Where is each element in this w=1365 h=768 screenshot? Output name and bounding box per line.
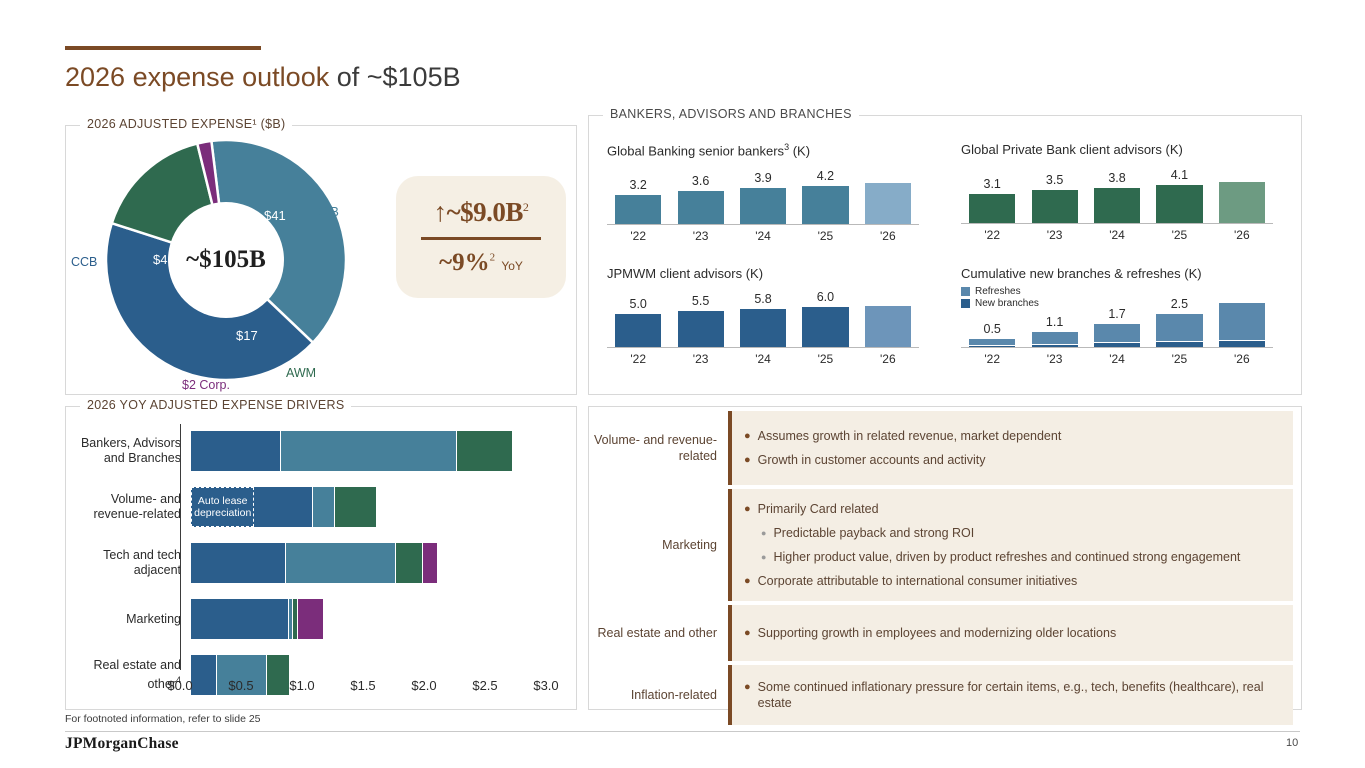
axis-tick-label: '22	[961, 352, 1023, 366]
axis-tick-label: '26	[857, 229, 919, 243]
commentary-body: ●Assumes growth in related revenue, mark…	[728, 411, 1293, 485]
bar-column: 3.8	[1086, 171, 1148, 223]
driver-segment-awm	[396, 543, 423, 583]
title-accent-rule	[65, 46, 261, 50]
driver-segment-ccb	[191, 431, 281, 471]
segment-refreshes	[1094, 324, 1140, 342]
driver-segment-cib	[286, 543, 396, 583]
chart-title: Cumulative new branches & refreshes (K)	[961, 266, 1273, 281]
stacked-bar	[969, 339, 1015, 347]
axis-tick-label: '24	[1086, 352, 1148, 366]
bar-column: 4.2	[794, 169, 856, 224]
commentary-body: ●Supporting growth in employees and mode…	[728, 605, 1293, 661]
callout-percent: ~9%2 YoY	[439, 249, 523, 277]
driver-bar-track	[191, 599, 576, 639]
commentary-bullet: ●Assumes growth in related revenue, mark…	[744, 428, 1281, 444]
bar-column	[857, 166, 919, 224]
bullet-dot-icon: ●	[761, 549, 766, 565]
donut-label-awm: AWM	[286, 366, 316, 380]
drivers-axis-line	[180, 424, 181, 670]
bar-column: 5.8	[732, 292, 794, 347]
segment-new-branches	[1156, 341, 1202, 347]
bar-value-label: 1.7	[1108, 307, 1125, 322]
donut-value-awm: $17	[236, 328, 258, 343]
commentary-row: Volume- and revenue-related●Assumes grow…	[589, 411, 1293, 485]
bar-value-label: 3.9	[754, 171, 771, 186]
driver-axis-tick: $0.0	[167, 678, 192, 693]
stacked-bar	[1032, 332, 1078, 347]
axis-tick-label: '22	[607, 352, 669, 366]
commentary-bullet: ●Supporting growth in employees and mode…	[744, 625, 1281, 641]
bar-column: 3.9	[732, 171, 794, 224]
axis-tick-label: '23	[669, 229, 731, 243]
driver-segment-cib	[281, 431, 457, 471]
axis-tick-label: '26	[1211, 228, 1273, 242]
segment-new-branches	[969, 345, 1015, 347]
commentary-bullet: ●Primarily Card related	[744, 501, 1281, 517]
axis-tick-label: '24	[732, 229, 794, 243]
commentary-bullet-text: Primarily Card related	[758, 501, 879, 517]
stacked-bar	[1156, 314, 1202, 347]
driver-axis-tick: $2.5	[472, 678, 497, 693]
bullet-dot-icon: ●	[744, 625, 751, 641]
bar	[969, 194, 1015, 223]
commentary-bullet-text: Higher product value, driven by product …	[773, 549, 1240, 565]
axis-tick-label: '23	[1023, 352, 1085, 366]
axis-tick-label: '26	[1211, 352, 1273, 366]
bar	[615, 195, 661, 224]
axis-tick-label: '25	[794, 229, 856, 243]
commentary-category-label: Inflation-related	[589, 665, 728, 725]
driver-segment-corp	[423, 543, 438, 583]
driver-axis-tick: $0.5	[228, 678, 253, 693]
bar-column	[857, 289, 919, 347]
bar	[740, 188, 786, 224]
panel-bankers-title: BANKERS, ADVISORS AND BRANCHES	[603, 107, 859, 121]
bar	[865, 183, 911, 224]
slide-root: 2026 expense outlook of ~$105B 2026 ADJU…	[0, 0, 1365, 768]
donut-value-corp: $2	[182, 378, 196, 392]
donut-value-ccb: $45	[153, 252, 175, 267]
drivers-chart: Bankers, Advisors and BranchesVolume- an…	[66, 431, 576, 709]
chart-title: Global Banking senior bankers3 (K)	[607, 142, 919, 158]
driver-axis-tick: $2.0	[411, 678, 436, 693]
commentary-bullet: ●Predictable payback and strong ROI	[744, 525, 1281, 541]
segment-refreshes	[1032, 332, 1078, 344]
footer-divider	[65, 731, 1300, 732]
axis-tick-label: '26	[857, 352, 919, 366]
bullet-dot-icon: ●	[761, 525, 766, 541]
bar-column: 5.0	[607, 297, 669, 347]
segment-refreshes	[1219, 303, 1265, 340]
commentary-row: Marketing●Primarily Card related●Predict…	[589, 489, 1293, 601]
driver-row: Volume- and revenue-relatedAuto lease de…	[66, 487, 576, 527]
bar	[740, 309, 786, 347]
bar-column: 3.2	[607, 178, 669, 224]
chart-cumulative-new-branches-refreshes: Cumulative new branches & refreshes (K) …	[961, 266, 1273, 366]
axis-tick-label: '22	[961, 228, 1023, 242]
callout-amount: ↑~$9.0B2	[434, 197, 529, 228]
page-title-secondary: of ~$105B	[337, 62, 461, 92]
bar-value-label: 4.1	[1171, 168, 1188, 183]
commentary-category-label: Volume- and revenue-related	[589, 411, 728, 485]
bar	[865, 306, 911, 347]
chart-title: Global Private Bank client advisors (K)	[961, 142, 1273, 157]
driver-bar-track: Auto lease depreciation	[191, 487, 576, 527]
commentary-bullet: ●Some continued inflationary pressure fo…	[744, 679, 1281, 711]
driver-bar-track	[191, 543, 576, 583]
axis-tick-label: '25	[794, 352, 856, 366]
axis-tick-label: '25	[1148, 228, 1210, 242]
driver-segment-awm	[457, 431, 512, 471]
commentary-row: Inflation-related●Some continued inflati…	[589, 665, 1293, 725]
stacked-bar-column: 2.5	[1148, 297, 1210, 347]
commentary-bullet: ●Corporate attributable to international…	[744, 573, 1281, 589]
bar	[1032, 190, 1078, 223]
bar	[1219, 182, 1265, 223]
panel-driver-commentary: Volume- and revenue-related●Assumes grow…	[588, 406, 1302, 710]
brand-logo: JPMorganChase	[65, 735, 179, 753]
donut-label-corp-text: Corp.	[199, 378, 230, 392]
bar	[678, 311, 724, 347]
panel-adjusted-expense: 2026 ADJUSTED EXPENSE¹ ($B) ~$105B $45 $…	[65, 125, 577, 395]
stacked-bar-column: 1.7	[1086, 307, 1148, 347]
axis-tick-label: '23	[1023, 228, 1085, 242]
commentary-bullet-text: Growth in customer accounts and activity	[758, 452, 986, 468]
bar-value-label: 5.0	[630, 297, 647, 312]
bullet-dot-icon: ●	[744, 679, 751, 695]
stacked-bar	[1094, 324, 1140, 347]
commentary-bullet: ●Growth in customer accounts and activit…	[744, 452, 1281, 468]
driver-stacked-bar	[191, 543, 437, 583]
commentary-bullet-text: Corporate attributable to international …	[758, 573, 1078, 589]
donut-value-cib: $41	[264, 208, 286, 223]
commentary-bullet-text: Predictable payback and strong ROI	[773, 525, 974, 541]
bar-value-label: 5.5	[692, 294, 709, 309]
commentary-row: Real estate and other●Supporting growth …	[589, 605, 1293, 661]
driver-segment-ccb	[191, 599, 289, 639]
axis-tick-label: '25	[1148, 352, 1210, 366]
bar	[615, 314, 661, 347]
segment-new-branches	[1219, 340, 1265, 347]
driver-category-label: Tech and tech adjacent	[66, 548, 191, 578]
bar	[802, 307, 848, 347]
commentary-bullet-text: Assumes growth in related revenue, marke…	[758, 428, 1062, 444]
axis-tick-label: '22	[607, 229, 669, 243]
driver-segment-corp	[298, 599, 322, 639]
bullet-dot-icon: ●	[744, 428, 751, 444]
bar-value-label: 3.5	[1046, 173, 1063, 188]
bar-column: 6.0	[794, 290, 856, 347]
commentary-bullet: ●Higher product value, driven by product…	[744, 549, 1281, 565]
chart-title: JPMWM client advisors (K)	[607, 266, 919, 281]
axis-tick-label: '24	[732, 352, 794, 366]
commentary-category-label: Marketing	[589, 489, 728, 601]
commentary-bullet-text: Some continued inflationary pressure for…	[758, 679, 1281, 711]
bullet-dot-icon: ●	[744, 573, 751, 589]
driver-segment-awm	[335, 487, 376, 527]
callout-divider	[421, 237, 541, 240]
bar-value-label: 5.8	[754, 292, 771, 307]
bar-value-label: 4.2	[817, 169, 834, 184]
page-number: 10	[1286, 737, 1298, 749]
donut-center-total: ~$105B	[186, 246, 266, 274]
driver-row: Marketing	[66, 599, 576, 639]
axis-tick-label: '24	[1086, 228, 1148, 242]
footnote-text: For footnoted information, refer to slid…	[65, 713, 261, 725]
segment-new-branches	[1094, 342, 1140, 347]
bullet-dot-icon: ●	[744, 501, 751, 517]
stacked-bar-column: 0.5	[961, 322, 1023, 347]
driver-category-label: Volume- and revenue-related	[66, 492, 191, 522]
bar-value-label: 3.1	[984, 177, 1001, 192]
driver-stacked-bar	[191, 599, 323, 639]
segment-refreshes	[1156, 314, 1202, 341]
bar-value-label: 0.5	[984, 322, 1001, 337]
driver-bar-track	[191, 431, 576, 471]
bar-column	[1211, 165, 1273, 223]
commentary-body: ●Primarily Card related●Predictable payb…	[728, 489, 1293, 601]
bar-value-label: 3.8	[1108, 171, 1125, 186]
stacked-bar-column: 1.1	[1023, 315, 1085, 347]
stacked-bar-column	[1211, 286, 1273, 347]
commentary-category-label: Real estate and other	[589, 605, 728, 661]
commentary-body: ●Some continued inflationary pressure fo…	[728, 665, 1293, 725]
bar-value-label: 2.5	[1171, 297, 1188, 312]
stacked-bar	[1219, 303, 1265, 347]
bar-column: 3.5	[1023, 173, 1085, 223]
page-title: 2026 expense outlook of ~$105B	[65, 60, 461, 94]
driver-row: Tech and tech adjacent	[66, 543, 576, 583]
bar-value-label: 6.0	[817, 290, 834, 305]
expense-growth-callout: ↑~$9.0B2 ~9%2 YoY	[396, 176, 566, 298]
bar	[678, 191, 724, 224]
bar-value-label: 1.1	[1046, 315, 1063, 330]
donut-label-cib: CIB	[318, 205, 339, 219]
bar-column: 4.1	[1148, 168, 1210, 223]
panel-adjusted-expense-title: 2026 ADJUSTED EXPENSE¹ ($B)	[80, 117, 292, 131]
panel-bankers-advisors-branches: BANKERS, ADVISORS AND BRANCHES Global Ba…	[588, 115, 1302, 395]
driver-axis-tick: $3.0	[533, 678, 558, 693]
bar-column: 3.6	[669, 174, 731, 224]
driver-stacked-bar	[191, 431, 512, 471]
driver-segment-ccb	[191, 543, 286, 583]
driver-segment-cib	[313, 487, 335, 527]
bar	[1156, 185, 1202, 223]
donut-label-corp: $2 Corp.	[182, 378, 230, 392]
bar-value-label: 3.2	[630, 178, 647, 193]
donut-chart: ~$105B $45 $41 $17 CCB CIB AWM $2 Corp.	[106, 140, 346, 380]
panel-yoy-expense-drivers: 2026 YOY ADJUSTED EXPENSE DRIVERS Banker…	[65, 406, 577, 710]
auto-lease-depreciation-callout: Auto lease depreciation	[191, 487, 254, 527]
bar-column: 3.1	[961, 177, 1023, 223]
bar	[802, 186, 848, 224]
drivers-x-axis: $0.0$0.5$1.0$1.5$2.0$2.5$3.0	[115, 678, 575, 698]
driver-axis-tick: $1.5	[350, 678, 375, 693]
bar-value-label: 3.6	[692, 174, 709, 189]
driver-axis-tick: $1.0	[289, 678, 314, 693]
commentary-bullet-text: Supporting growth in employees and moder…	[758, 625, 1117, 641]
segment-new-branches	[1032, 344, 1078, 347]
page-title-primary: 2026 expense outlook	[65, 62, 329, 92]
chart-global-private-bank-client-advisors: Global Private Bank client advisors (K) …	[961, 142, 1273, 242]
bullet-dot-icon: ●	[744, 452, 751, 468]
bar-column: 5.5	[669, 294, 731, 347]
chart-jpmwm-client-advisors: JPMWM client advisors (K) 5.05.55.86.0 '…	[607, 266, 919, 366]
donut-label-ccb: CCB	[71, 255, 97, 269]
driver-category-label: Marketing	[66, 612, 191, 627]
bar	[1094, 188, 1140, 223]
panel-drivers-title: 2026 YOY ADJUSTED EXPENSE DRIVERS	[80, 398, 351, 412]
driver-row: Bankers, Advisors and Branches	[66, 431, 576, 471]
axis-tick-label: '23	[669, 352, 731, 366]
driver-category-label: Bankers, Advisors and Branches	[66, 436, 191, 466]
chart-global-banking-senior-bankers: Global Banking senior bankers3 (K) 3.23.…	[607, 142, 919, 243]
